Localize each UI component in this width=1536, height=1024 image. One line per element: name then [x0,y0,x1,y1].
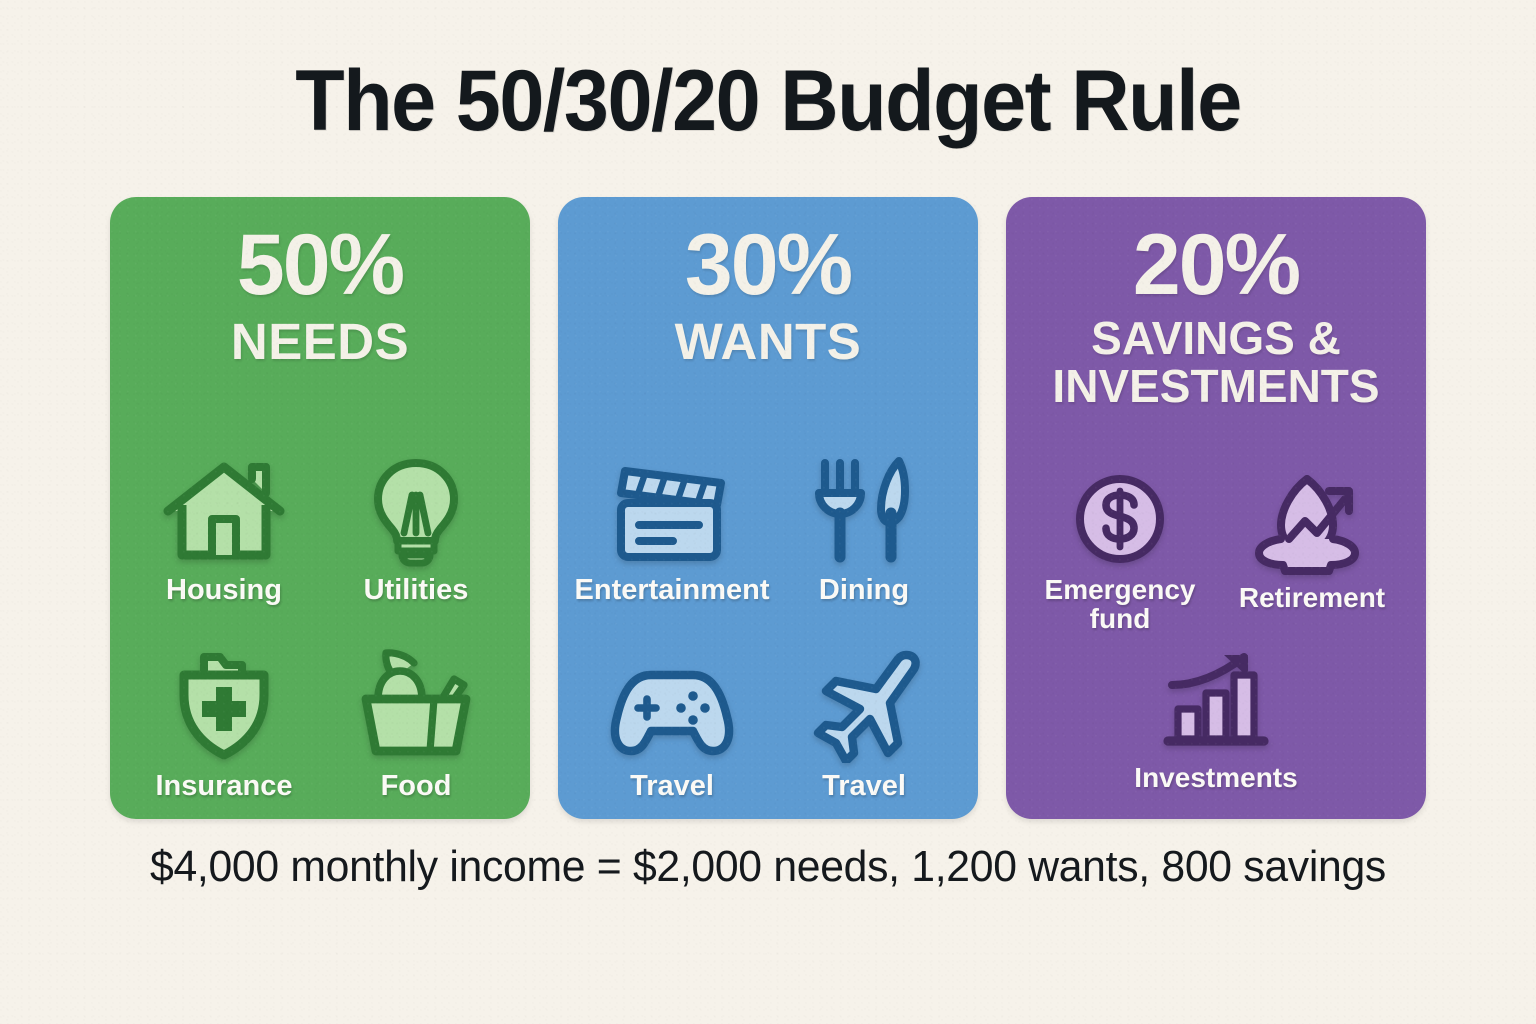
gamepad-icon [607,659,737,763]
item-label: Retirement [1239,583,1385,612]
lightbulb-icon [360,455,472,567]
clapperboard-icon [609,455,735,567]
item-entertainment[interactable]: Entertainment [576,409,768,605]
item-emergency-fund[interactable]: Emergency fund [1024,471,1216,651]
item-label: Entertainment [575,575,770,605]
needs-items: Housing Utilities [128,409,512,801]
budget-card-wants[interactable]: 30% WANTS Entertainment [558,197,978,819]
item-label: Dining [819,575,909,605]
budget-card-needs[interactable]: 50% NEEDS Housing [110,197,530,819]
item-housing[interactable]: Housing [128,409,320,605]
item-investments[interactable]: Investments [1024,651,1408,801]
grocery-basket-icon [354,647,478,763]
item-food[interactable]: Food [320,605,512,801]
bar-chart-growth-icon [1156,651,1276,755]
footer-example-text: $4,000 monthly income = $2,000 needs, 1,… [23,845,1513,889]
item-utilities[interactable]: Utilities [320,409,512,605]
item-label: Travel [822,771,906,801]
house-icon [160,455,288,567]
needs-percent: 50% [128,223,512,307]
airplane-icon [802,647,926,763]
item-dining[interactable]: Dining [768,409,960,605]
dollar-coin-icon [1072,471,1168,567]
shield-plus-icon [168,647,280,763]
wants-items: Entertainment Dining [576,409,960,801]
item-retirement[interactable]: Retirement [1216,471,1408,651]
page-title: The 50/30/20 Budget Rule [46,58,1490,144]
item-label: Travel [630,771,714,801]
item-insurance[interactable]: Insurance [128,605,320,801]
item-travel-flight[interactable]: Travel [768,605,960,801]
savings-items: Emergency fund Retirement [1024,471,1408,801]
savings-percent: 20% [1024,223,1408,307]
item-label: Food [381,771,452,801]
wants-category: WANTS [576,315,960,368]
needs-category: NEEDS [128,315,512,368]
item-label: Investments [1134,763,1297,792]
wants-percent: 30% [576,223,960,307]
item-label: Housing [166,575,282,605]
infographic-page: The 50/30/20 Budget Rule 50% NEEDS Ho [0,0,1536,1024]
nest-egg-growth-icon [1253,471,1371,575]
item-label: Utilities [364,575,469,605]
item-label: Insurance [156,771,293,801]
savings-category: SAVINGS & INVESTMENTS [1024,315,1408,411]
budget-cards-row: 50% NEEDS Housing [110,197,1426,819]
item-travel-gaming[interactable]: Travel [576,605,768,801]
fork-knife-icon [809,453,919,567]
budget-card-savings[interactable]: 20% SAVINGS & INVESTMENTS Emergency fund [1006,197,1426,819]
item-label: Emergency fund [1024,575,1216,633]
